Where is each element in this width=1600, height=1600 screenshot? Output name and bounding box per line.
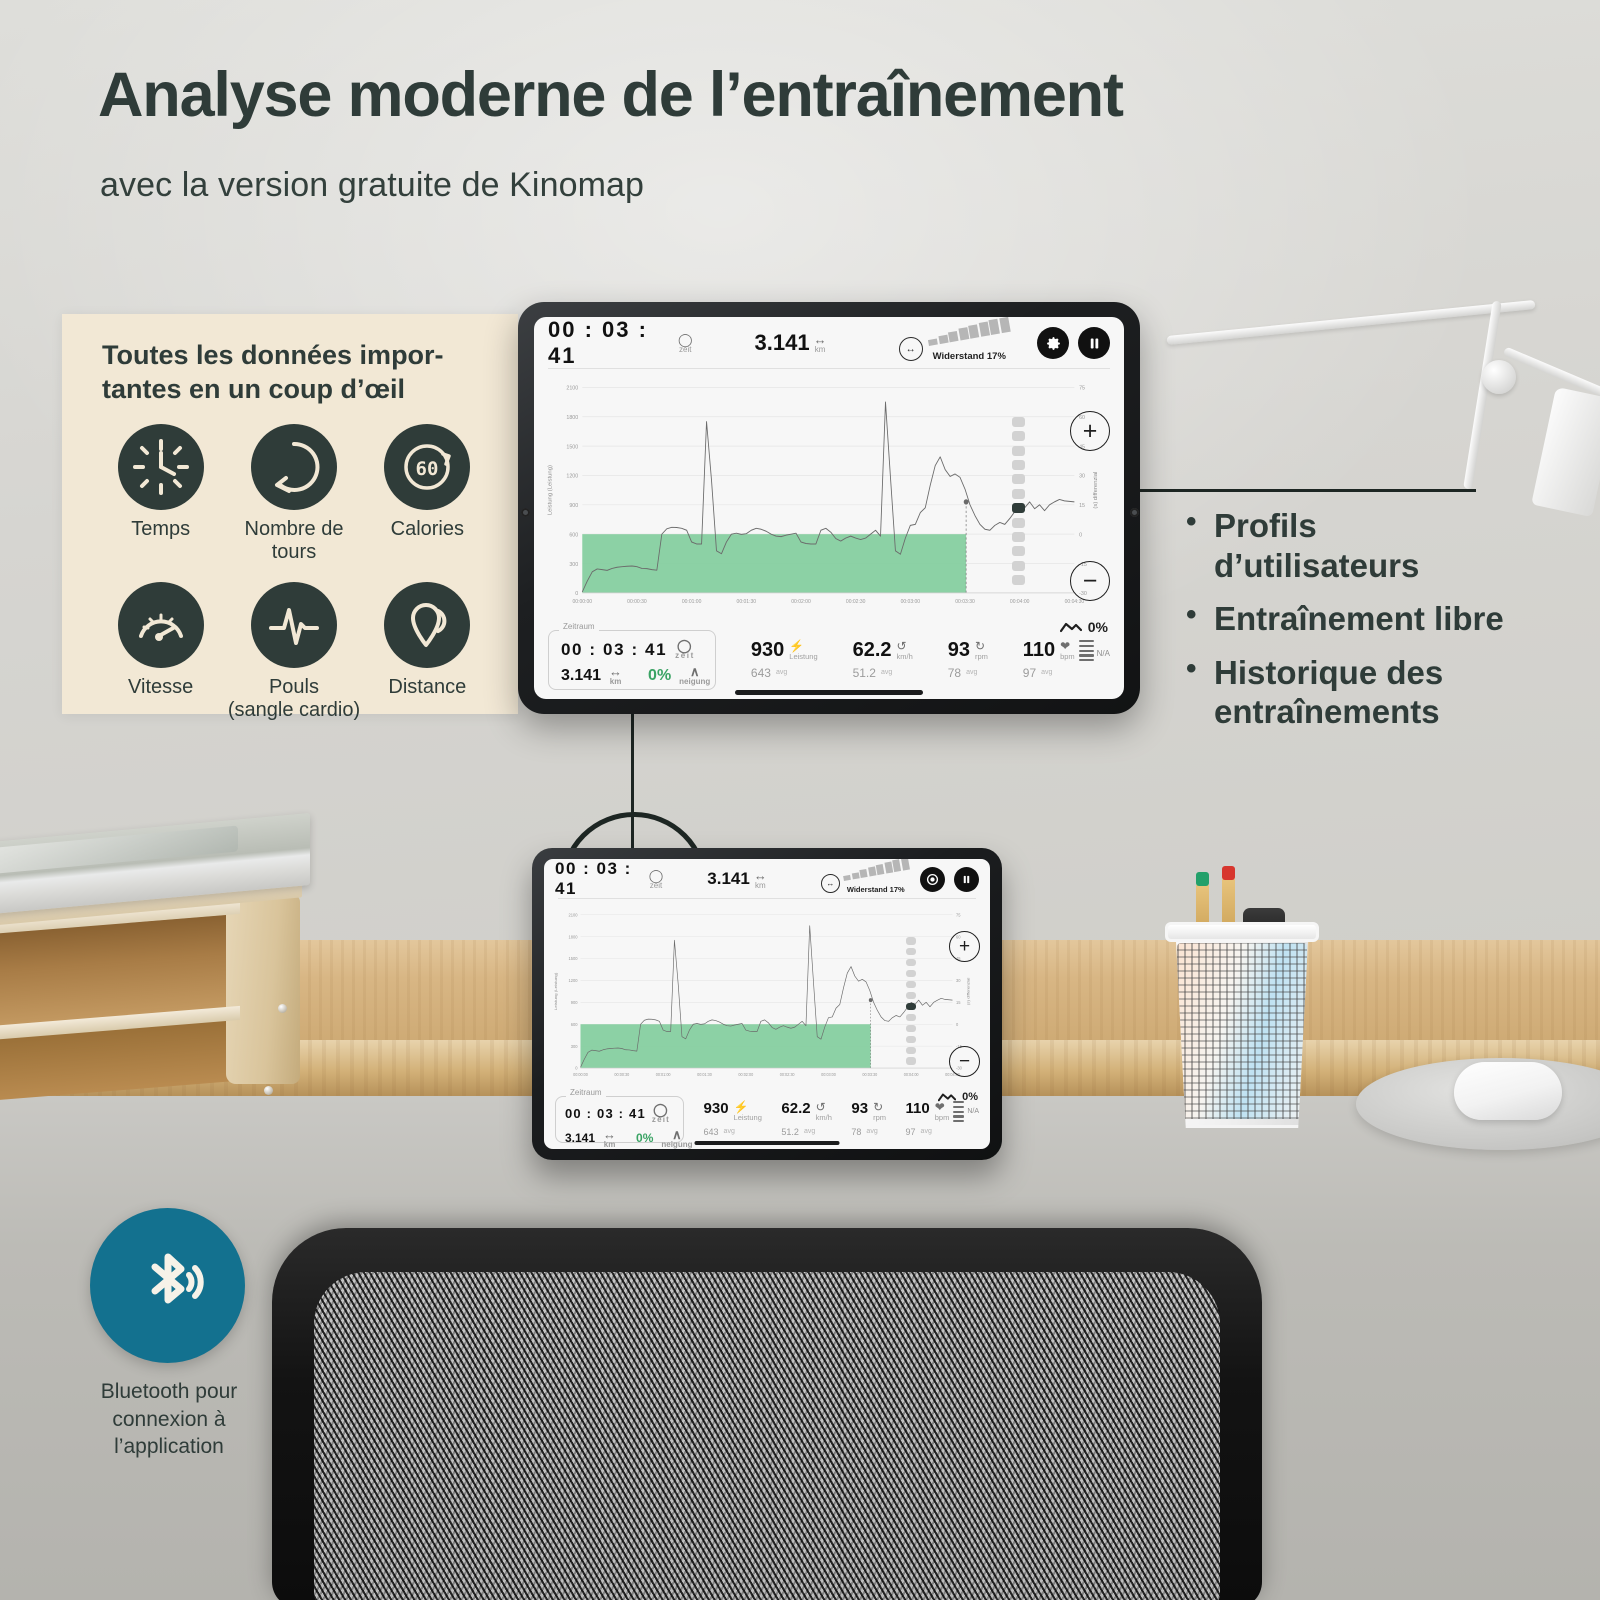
feature-panel: Toutes les données impor-tantes en un co… — [62, 314, 518, 714]
bluetooth-caption: Bluetooth pourconnexion àl’application — [55, 1378, 283, 1461]
riser-screw — [264, 1086, 273, 1095]
decrease-resistance-button[interactable]: − — [949, 1046, 980, 1077]
header-distance: 3.141 — [707, 869, 750, 889]
stat-average: 51.2 — [853, 666, 876, 680]
hr-zone-bars — [953, 1101, 964, 1122]
svg-text:00:02:30: 00:02:30 — [846, 599, 866, 605]
stat-average: 97 — [906, 1127, 916, 1137]
tablet-screen-large[interactable]: 00 : 03 : 41 ◯zeit 3.141 ↔km ↔ Widerstan… — [534, 317, 1124, 699]
svg-text:1200: 1200 — [566, 473, 578, 479]
svg-text:1500: 1500 — [566, 444, 578, 450]
resistance-slider[interactable] — [906, 937, 916, 1065]
pencil-tip — [1196, 872, 1209, 886]
tablet-screen-small[interactable]: 00 : 03 : 41 ◯zeit 3.141 ↔km ↔ Widerstan… — [544, 859, 990, 1149]
stat-value: 110 — [906, 1101, 930, 1116]
stat-average: 78 — [948, 666, 961, 680]
benefit-item: Entraînement libre — [1186, 599, 1506, 639]
zeitraum-caption: Zeitraum — [566, 1088, 606, 1097]
feature-item-temps: Temps — [94, 424, 227, 564]
stat-cadence: 93 ↻rpm 78avg — [851, 1101, 886, 1136]
zeitraum-box: Zeitraum 00 : 03 : 41 ◯zeit 3.141 ↔km 0%… — [548, 630, 716, 690]
feature-label: Calories — [391, 518, 464, 541]
stat-value: 110 — [1023, 640, 1055, 660]
svg-text:00:00:30: 00:00:30 — [614, 1072, 630, 1077]
gear-icon[interactable] — [1037, 327, 1069, 359]
tablet-camera — [521, 508, 530, 517]
heartbeat-icon — [251, 582, 337, 668]
increase-resistance-button[interactable]: + — [949, 931, 980, 962]
resistance-label: Widerstand 17% — [847, 885, 905, 894]
incline-icon: ∧neigung — [661, 1128, 692, 1149]
cadence-icon: ↻rpm — [873, 1101, 886, 1121]
app-header: 00 : 03 : 41 ◯zeit 3.141 ↔km ↔ Widerstan… — [544, 859, 990, 899]
svg-text:Leistung (Leistung): Leistung (Leistung) — [548, 465, 554, 515]
svg-text:00:01:00: 00:01:00 — [682, 599, 702, 605]
resistance-slider[interactable] — [1012, 417, 1025, 585]
benefit-item: Profils d’utilisateurs — [1186, 506, 1506, 585]
bluetooth-icon — [125, 1243, 211, 1329]
stat-value: 62.2 — [781, 1101, 810, 1116]
clock-icon — [118, 424, 204, 510]
zeitraum-time: 00 : 03 : 41 — [561, 640, 667, 660]
benefit-item: Historique des entraînements — [1186, 653, 1506, 732]
resistance-ramp-icon: ↔ Widerstand 17% — [899, 323, 1037, 363]
stat-average: 643 — [704, 1127, 719, 1137]
feature-item-distance: Distance — [361, 582, 494, 722]
time-unit-label: zeit — [679, 345, 691, 354]
feature-item-calories: 60 Calories — [361, 424, 494, 564]
header-elapsed-time: 00 : 03 : 41 — [555, 859, 645, 899]
header-elapsed-time: 00 : 03 : 41 — [548, 317, 674, 369]
clock-icon: ◯zeit — [678, 333, 693, 354]
svg-text:300: 300 — [569, 562, 578, 568]
stat-average: 78 — [851, 1127, 861, 1137]
svg-text:00:00:00: 00:00:00 — [573, 599, 593, 605]
feature-label: Nombre de — [245, 518, 344, 541]
map-pin-icon — [384, 582, 470, 668]
feature-label: Distance — [388, 676, 466, 699]
hr-zone-bars — [1079, 640, 1094, 661]
svg-text:1500: 1500 — [568, 956, 578, 961]
resistance-bars — [842, 859, 910, 881]
svg-text:00:03:30: 00:03:30 — [862, 1072, 878, 1077]
svg-text:00:00:00: 00:00:00 — [573, 1072, 589, 1077]
stat-cadence: 93 ↻rpm 78avg — [948, 640, 988, 679]
svg-text:Leistung (Leistung): Leistung (Leistung) — [553, 972, 558, 1010]
svg-text:75: 75 — [1079, 385, 1085, 391]
resistance-circle-icon: ↔ — [899, 337, 923, 361]
stat-speed: 62.2 ↺km/h 51.2avg — [853, 640, 913, 679]
svg-text:00:01:00: 00:01:00 — [656, 1072, 672, 1077]
svg-text:600: 600 — [569, 532, 578, 538]
stat-heartrate: 110 ❤bpm 97avg N/A — [906, 1101, 979, 1136]
stat-average: 51.2 — [781, 1127, 799, 1137]
svg-text:1800: 1800 — [566, 415, 578, 421]
resistance-controls: + − 0% — [1002, 411, 1114, 601]
feature-sublabel: (sangle cardio) — [228, 699, 360, 722]
home-indicator — [695, 1141, 840, 1145]
distance-arrows-icon: ↔km — [754, 869, 767, 890]
stat-average: 643 — [751, 666, 771, 680]
zeitraum-box: Zeitraum 00 : 03 : 41 ◯zeit 3.141 ↔km 0%… — [555, 1096, 684, 1143]
feature-panel-title: Toutes les données impor-tantes en un co… — [102, 338, 498, 406]
home-indicator — [735, 690, 923, 695]
chair-mesh-back — [314, 1272, 1220, 1600]
stat-value: 93 — [948, 640, 970, 660]
clock-icon: ◯zeit — [649, 869, 664, 890]
feature-item-pouls: Pouls (sangle cardio) — [227, 582, 360, 722]
svg-text:1200: 1200 — [568, 978, 578, 983]
zeitraum-time: 00 : 03 : 41 — [565, 1106, 646, 1121]
feature-icon-grid: Temps Nombre de tours 60 Calories — [94, 424, 494, 722]
power-icon: ⚡Leistung — [789, 640, 817, 660]
svg-text:60: 60 — [416, 458, 439, 480]
feature-sublabel: tours — [272, 541, 316, 564]
distance-arrows-icon: ↔km — [603, 1128, 616, 1149]
zeitraum-distance: 3.141 — [565, 1131, 595, 1145]
svg-text:900: 900 — [571, 1000, 578, 1005]
feature-label: Pouls — [269, 676, 319, 699]
zeitraum-grade: 0% — [648, 667, 671, 685]
hr-zone-value: N/A — [1097, 649, 1110, 658]
distance-unit-label: km — [815, 345, 826, 354]
speed-icon: ↺km/h — [816, 1101, 832, 1121]
stat-speed: 62.2 ↺km/h 51.2avg — [781, 1101, 831, 1136]
speedometer-icon — [118, 582, 204, 668]
pause-icon[interactable] — [954, 867, 979, 892]
rotation-icon — [251, 424, 337, 510]
office-chair — [272, 1228, 1262, 1600]
svg-text:300: 300 — [571, 1044, 578, 1049]
power-chart[interactable]: 03006009001200150018002100-30-1501530456… — [534, 369, 1124, 621]
resistance-circle-icon: ↔ — [821, 874, 840, 893]
resistance-controls: + − 0% — [898, 931, 984, 1077]
monitor-riser — [0, 828, 340, 1128]
benefits-list: Profils d’utilisateurs Entraînement libr… — [1186, 506, 1506, 746]
power-icon: ⚡Leistung — [734, 1101, 762, 1121]
hr-zone-value: N/A — [967, 1108, 979, 1115]
tablet-sensor — [1130, 508, 1139, 517]
stats-bar: Zeitraum 00 : 03 : 41 ◯zeit 3.141 ↔km 0%… — [544, 1089, 990, 1149]
svg-text:1800: 1800 — [568, 934, 578, 939]
zeitraum-grade: 0% — [636, 1131, 653, 1145]
svg-text:00:01:30: 00:01:30 — [737, 599, 757, 605]
feature-label: Temps — [131, 518, 190, 541]
app-header: 00 : 03 : 41 ◯zeit 3.141 ↔km ↔ Widerstan… — [534, 317, 1124, 369]
stat-power: 930 ⚡Leistung 643avg — [704, 1101, 762, 1136]
svg-text:0: 0 — [575, 1066, 578, 1071]
svg-text:00:03:00: 00:03:00 — [821, 1072, 837, 1077]
feature-label: Vitesse — [128, 676, 193, 699]
svg-text:2100: 2100 — [566, 385, 578, 391]
computer-mouse — [1454, 1062, 1562, 1120]
pen-holder — [1168, 930, 1316, 1128]
bluetooth-badge — [90, 1208, 245, 1363]
stat-value: 93 — [851, 1101, 868, 1116]
svg-text:900: 900 — [569, 503, 578, 509]
heart-icon: ❤bpm — [1060, 640, 1075, 660]
stat-average: 97 — [1023, 666, 1036, 680]
heart-icon: ❤bpm — [935, 1101, 950, 1121]
svg-text:75: 75 — [956, 912, 961, 917]
gear-icon[interactable] — [920, 867, 945, 892]
svg-text:00:03:00: 00:03:00 — [901, 599, 921, 605]
speed-icon: ↺km/h — [897, 640, 913, 660]
svg-text:00:02:00: 00:02:00 — [738, 1072, 754, 1077]
photo-scene — [0, 0, 1600, 1600]
svg-text:00:00:30: 00:00:30 — [627, 599, 647, 605]
header-distance: 3.141 — [755, 330, 810, 356]
pause-icon[interactable] — [1078, 327, 1110, 359]
clock-icon: ◯zeit — [652, 1103, 670, 1124]
svg-text:2100: 2100 — [568, 912, 578, 917]
svg-text:00:03:30: 00:03:30 — [955, 599, 975, 605]
stat-value: 62.2 — [853, 640, 892, 660]
distance-arrows-icon: ↔km — [814, 333, 827, 354]
svg-text:600: 600 — [571, 1022, 578, 1027]
increase-resistance-button[interactable]: + — [1070, 411, 1110, 451]
resistance-bars — [926, 317, 1010, 346]
clock-icon: ◯zeit — [675, 639, 695, 660]
power-chart[interactable]: 03006009001200150018002100-30-1501530456… — [544, 899, 990, 1089]
distance-arrows-icon: ↔km — [609, 665, 622, 686]
svg-text:00:02:30: 00:02:30 — [780, 1072, 796, 1077]
feature-item-tours: Nombre de tours — [227, 424, 360, 564]
pencil-tip — [1222, 866, 1235, 880]
svg-text:00:02:00: 00:02:00 — [791, 599, 811, 605]
stat-power: 930 ⚡Leistung 643avg — [751, 640, 818, 679]
page-title: Analyse moderne de l’entraînement — [98, 62, 1518, 129]
svg-text:00:01:30: 00:01:30 — [697, 1072, 713, 1077]
desk-lamp-joint — [1482, 360, 1516, 394]
stat-heartrate: 110 ❤bpm 97avg N/A — [1023, 640, 1110, 679]
calories-60-icon: 60 — [384, 424, 470, 510]
feature-item-vitesse: Vitesse — [94, 582, 227, 722]
resistance-ramp-icon: ↔ Widerstand 17% — [821, 863, 920, 895]
page-subtitle: avec la version gratuite de Kinomap — [100, 166, 644, 205]
riser-side-panel — [226, 894, 300, 1084]
decrease-resistance-button[interactable]: − — [1070, 561, 1110, 601]
stat-value: 930 — [751, 640, 784, 660]
incline-icon: ∧neigung — [679, 665, 710, 686]
zeitraum-distance: 3.141 — [561, 667, 601, 685]
tablet-device-large: 00 : 03 : 41 ◯zeit 3.141 ↔km ↔ Widerstan… — [518, 302, 1140, 714]
cadence-icon: ↻rpm — [975, 640, 988, 660]
resistance-label: Widerstand 17% — [933, 351, 1006, 362]
tablet-device-small: 00 : 03 : 41 ◯zeit 3.141 ↔km ↔ Widerstan… — [532, 848, 1002, 1160]
riser-screw — [278, 1004, 287, 1013]
zeitraum-caption: Zeitraum — [559, 622, 599, 631]
stats-bar: Zeitraum 00 : 03 : 41 ◯zeit 3.141 ↔km 0%… — [534, 621, 1124, 699]
pen-holder-rim — [1165, 922, 1319, 942]
stat-value: 930 — [704, 1101, 729, 1116]
svg-text:0: 0 — [575, 591, 578, 597]
